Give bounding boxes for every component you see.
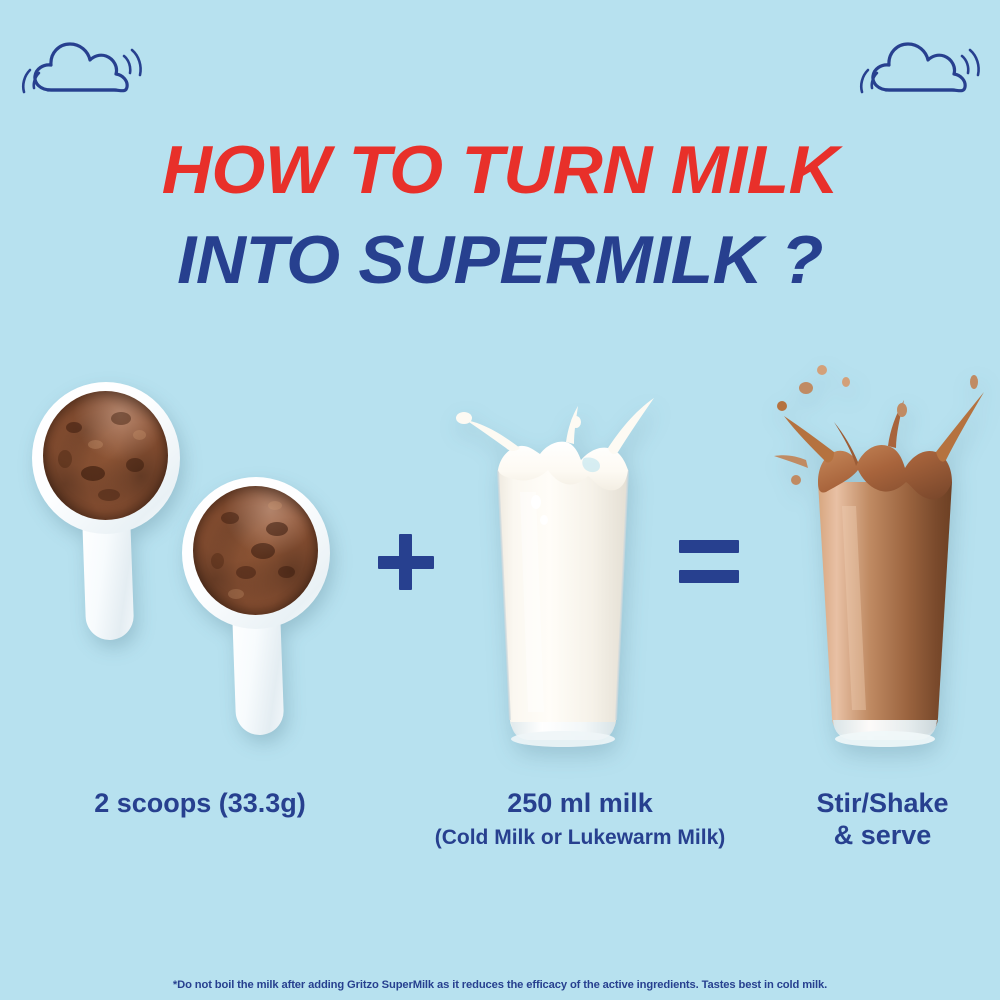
infographic-canvas: HOW TO TURN MILK INTO SUPERMILK ? (0, 0, 1000, 1000)
caption-milk-main: 250 ml milk (400, 788, 760, 820)
scoop-powder-1 (32, 382, 182, 652)
cloud-icon (18, 26, 148, 106)
caption-serve-sub: & serve (770, 820, 995, 852)
milk-glass (448, 362, 678, 752)
headline-line-1: HOW TO TURN MILK (0, 136, 1000, 204)
caption-serve-main: Stir/Shake (770, 788, 995, 820)
caption-serve: Stir/Shake & serve (770, 788, 995, 852)
equals-operator (679, 540, 739, 584)
scoop-powder-2 (182, 477, 332, 747)
footnote-disclaimer: *Do not boil the milk after adding Gritz… (0, 979, 1000, 991)
cloud-icon (856, 26, 986, 106)
chocolate-milk-glass (760, 352, 998, 752)
caption-milk-sub: (Cold Milk or Lukewarm Milk) (400, 826, 760, 851)
plus-operator (378, 534, 434, 590)
caption-scoops-main: 2 scoops (33.3g) (40, 788, 360, 820)
cocoa-powder (193, 486, 318, 615)
caption-milk: 250 ml milk (Cold Milk or Lukewarm Milk) (400, 788, 760, 851)
cocoa-powder (43, 391, 168, 520)
caption-scoops: 2 scoops (33.3g) (40, 788, 360, 820)
headline-line-2: INTO SUPERMILK ? (0, 226, 1000, 294)
